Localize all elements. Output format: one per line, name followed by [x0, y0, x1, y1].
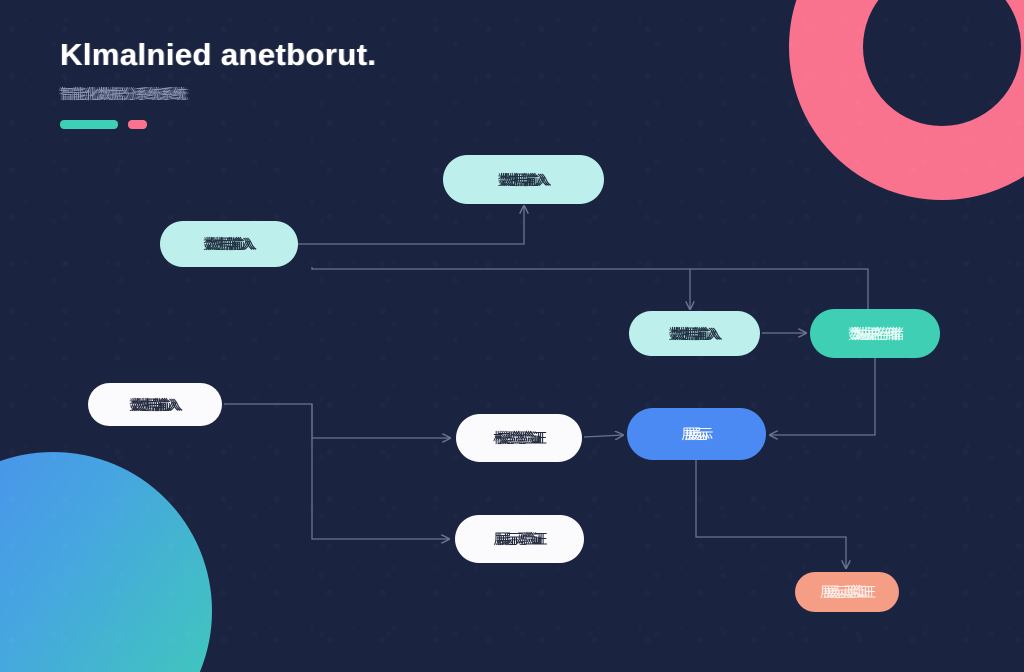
flow-node-n5[interactable]: 数据输入	[88, 383, 222, 426]
flow-node-n2[interactable]: 数据输入	[443, 155, 604, 204]
edge-n1-n2	[298, 206, 524, 244]
flow-node-n4[interactable]: 数据存储	[810, 309, 940, 358]
accent-bars	[60, 120, 376, 129]
flow-node-n7[interactable]: 展示	[627, 408, 766, 460]
edge-n1-n3	[312, 267, 690, 309]
flow-node-label: 数据输入	[500, 170, 548, 190]
flow-node-n9[interactable]: 展示验证	[795, 572, 899, 612]
header: Klmalnied anetborut. 智能化数据分系统系统	[60, 38, 376, 129]
flow-node-n1[interactable]: 数据输入	[160, 221, 298, 267]
flow-node-n8[interactable]: 展示验证	[455, 515, 584, 563]
page-title: Klmalnied anetborut.	[60, 38, 376, 72]
flow-node-label: 展示验证	[823, 582, 871, 602]
diagram-canvas: Klmalnied anetborut. 智能化数据分系统系统	[0, 0, 1024, 672]
flow-node-label: 展示验证	[496, 529, 544, 549]
flow-node-label: 数据输入	[671, 324, 719, 344]
accent-bar-secondary	[128, 120, 147, 129]
flow-node-label: 数据输入	[205, 234, 253, 254]
accent-bar-primary	[60, 120, 118, 129]
flow-node-n3[interactable]: 数据输入	[629, 311, 760, 356]
flow-node-n6[interactable]: 校验验证	[456, 414, 582, 462]
page-subtitle: 智能化数据分系统系统	[60, 84, 376, 104]
edge-n7-n9	[696, 460, 846, 568]
edge-n5-n6	[224, 404, 450, 438]
edge-n6-n7	[584, 435, 623, 437]
edge-trunk-n4	[690, 269, 868, 309]
flow-node-label: 展示	[685, 424, 709, 444]
flow-node-label: 校验验证	[495, 428, 543, 448]
edge-n5-n8	[312, 404, 449, 539]
edge-n4-n7	[770, 358, 875, 435]
flow-node-label: 数据输入	[131, 395, 179, 415]
flow-node-label: 数据存储	[851, 324, 899, 344]
